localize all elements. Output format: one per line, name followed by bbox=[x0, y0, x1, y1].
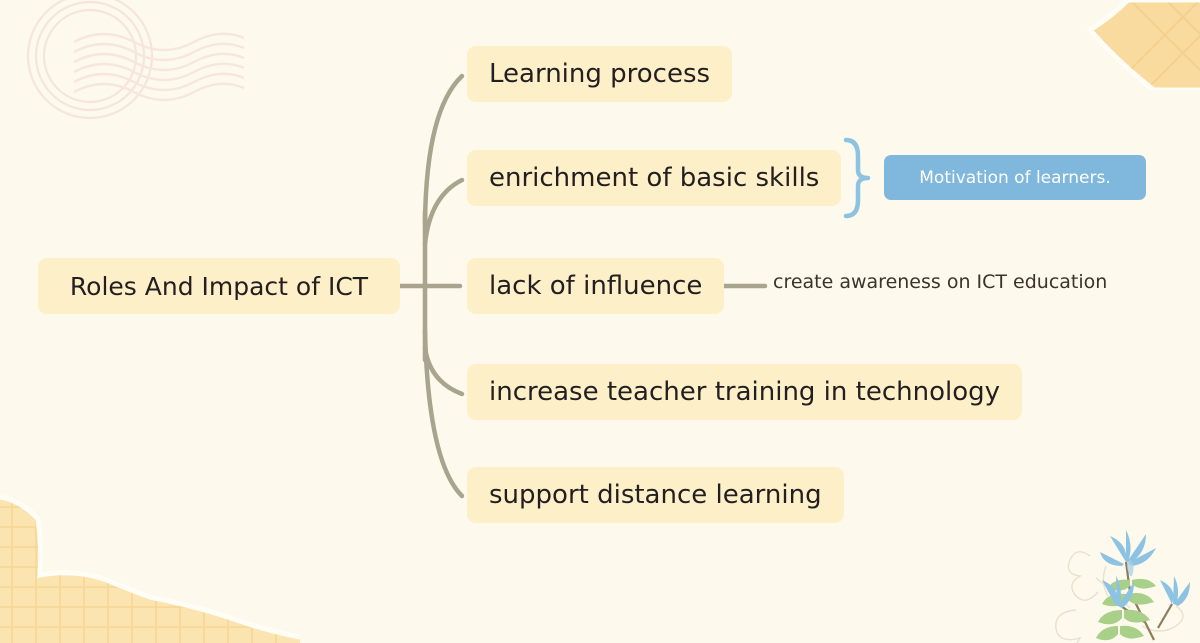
mindmap-branch-node-5[interactable]: support distance learning bbox=[467, 467, 844, 523]
connector-branch-5 bbox=[425, 330, 462, 496]
mindmap-branch-node-2[interactable]: enrichment of basic skills bbox=[467, 150, 841, 206]
mindmap-leaf-node-awareness[interactable]: create awareness on ICT education bbox=[773, 271, 1107, 293]
branch-node-label: increase teacher training in technology bbox=[489, 377, 1000, 407]
connector-branch-4 bbox=[425, 348, 462, 394]
branch-node-label: enrichment of basic skills bbox=[489, 163, 819, 193]
blue-brace-icon bbox=[840, 136, 874, 220]
branch-node-label: Learning process bbox=[489, 59, 710, 89]
mindmap-branch-node-4[interactable]: increase teacher training in technology bbox=[467, 364, 1022, 420]
mindmap-canvas: Roles And Impact of ICT Learning process… bbox=[0, 0, 1200, 643]
branch-node-label: lack of influence bbox=[489, 271, 702, 301]
mindmap-root-node[interactable]: Roles And Impact of ICT bbox=[38, 258, 400, 314]
leaf-node-label: create awareness on ICT education bbox=[773, 271, 1107, 293]
mindmap-callout-node-motivation[interactable]: Motivation of learners. bbox=[884, 155, 1146, 200]
mindmap-branch-node-3[interactable]: lack of influence bbox=[467, 258, 724, 314]
mindmap-branch-node-1[interactable]: Learning process bbox=[467, 46, 732, 102]
root-node-label: Roles And Impact of ICT bbox=[70, 272, 368, 301]
callout-node-label: Motivation of learners. bbox=[919, 168, 1110, 188]
connector-branch-2 bbox=[425, 180, 462, 244]
connector-branch-1 bbox=[425, 76, 462, 224]
branch-node-label: support distance learning bbox=[489, 480, 822, 510]
